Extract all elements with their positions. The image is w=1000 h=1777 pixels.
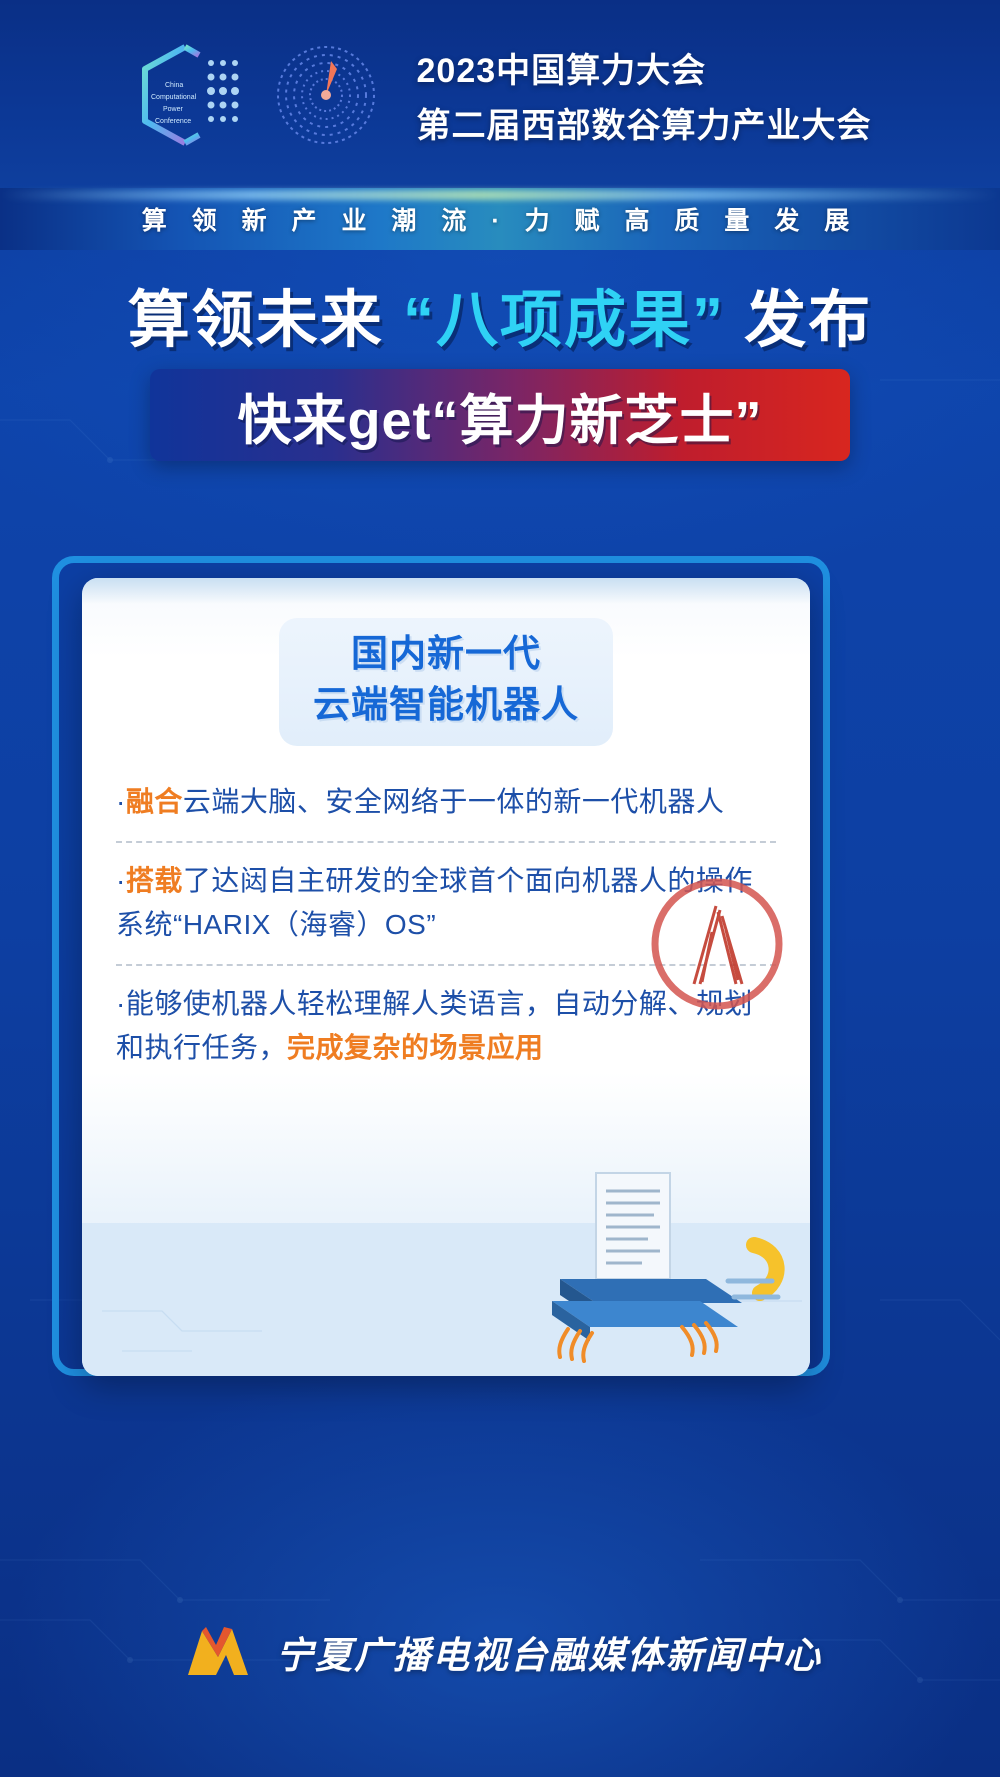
- document-server-illustration: [82, 1161, 810, 1376]
- main-title-part-3: 发布: [744, 286, 872, 355]
- document-sheet-icon: [596, 1173, 670, 1279]
- conference-title-line-2: 第二届西部数谷算力产业大会: [417, 98, 872, 147]
- logo-text-line-1: China: [165, 82, 183, 89]
- hexagon-c-logo-icon: China Computational Power Conference: [129, 39, 249, 151]
- bullet-marker: ·: [116, 988, 126, 1019]
- footer-text: 宁夏广播电视台融媒体新闻中心: [276, 1625, 822, 1679]
- main-title-line-2: 快来get“算力新芝士”: [238, 376, 763, 455]
- bullet-marker: ·: [116, 865, 126, 896]
- list-item: ·融合云端大脑、安全网络于一体的新一代机器人: [116, 764, 776, 841]
- footer-bar: 宁夏广播电视台融媒体新闻中心: [0, 1527, 1000, 1777]
- poster-root: China Computational Power Conference: [0, 0, 1000, 1777]
- logo-text-line-2: Computational: [151, 94, 197, 101]
- main-title-part-2: “八项成果”: [403, 286, 725, 355]
- nxtv-logo-icon: [178, 1619, 262, 1685]
- result-card: 国内新一代 云端智能机器人 ·融合云端大脑、安全网络于一体的新一代机器人 ·搭载…: [82, 578, 810, 1376]
- card-title-pill: 国内新一代 云端智能机器人: [279, 618, 613, 746]
- main-title-part-1: 算领未来: [128, 286, 384, 355]
- bullet-text: 云端大脑、安全网络于一体的新一代机器人: [183, 786, 725, 817]
- bullet-marker: ·: [116, 786, 126, 817]
- main-title-banner: 快来get“算力新芝士”: [150, 369, 850, 461]
- card-header: 国内新一代 云端智能机器人: [82, 578, 810, 756]
- conference-logo: China Computational Power Conference: [129, 39, 391, 151]
- main-title-line-1: 算领未来 “八项成果” 发布: [0, 286, 1000, 355]
- logo-text-line-3: Power: [163, 106, 184, 113]
- logo-text-line-4: Conference: [155, 118, 191, 125]
- bullet-highlight: 搭载: [126, 865, 183, 896]
- red-circle-stamp-icon: [642, 872, 792, 1022]
- conference-title-line-1: 2023中国算力大会: [417, 43, 872, 92]
- conference-title-block: 2023中国算力大会 第二届西部数谷算力产业大会: [417, 43, 872, 147]
- header-bar: China Computational Power Conference: [0, 0, 1000, 190]
- main-title-area: 算领未来 “八项成果” 发布 快来get“算力新芝士”: [0, 286, 1000, 461]
- card-title-line-2: 云端智能机器人: [313, 679, 579, 730]
- tagline-band: 算 领 新 产 业 潮 流 · 力 赋 高 质 量 发 展: [0, 188, 1000, 250]
- tagline-sheen-decoration: [0, 190, 1000, 200]
- radial-fan-emblem-icon: [261, 39, 391, 151]
- bullet-highlight: 融合: [126, 786, 183, 817]
- card-title-line-1: 国内新一代: [313, 628, 579, 679]
- tagline-text: 算 领 新 产 业 潮 流 · 力 赋 高 质 量 发 展: [142, 201, 859, 237]
- bullet-highlight-tail: 完成复杂的场景应用: [287, 1032, 544, 1063]
